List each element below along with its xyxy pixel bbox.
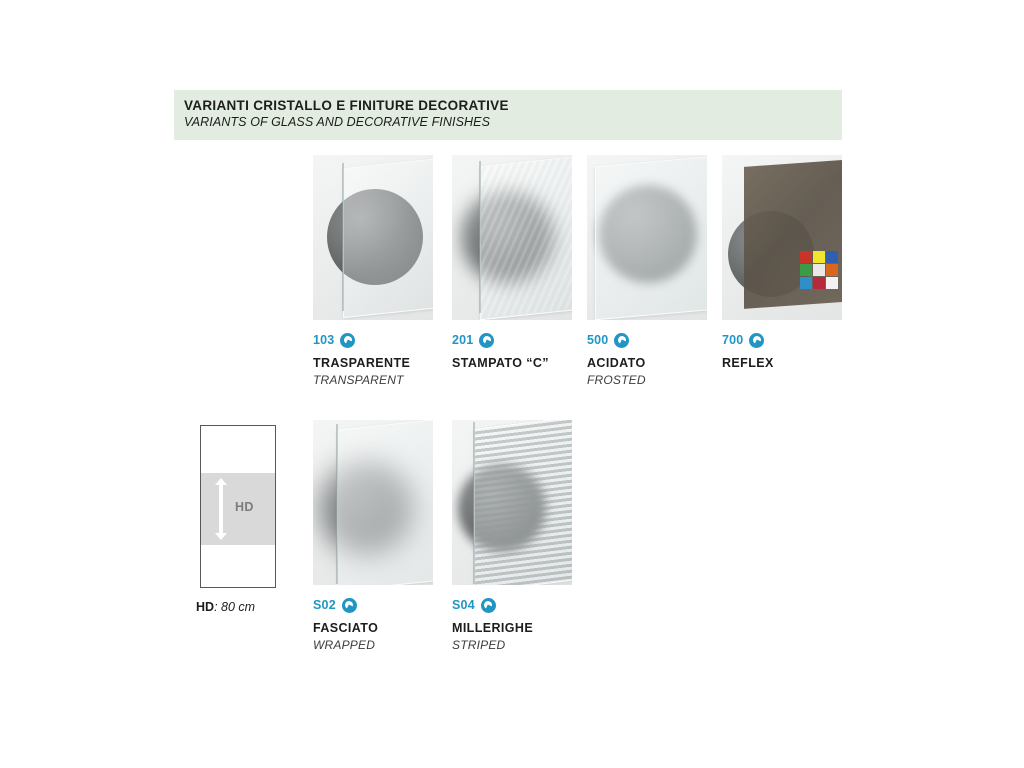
swatch-image-500: [587, 155, 707, 320]
color-chips-reflection: [800, 251, 838, 289]
swatch-image-201: [452, 155, 572, 320]
hd-diagram-box: HD: [200, 425, 276, 588]
swatch-code-line-s02: S02: [313, 597, 433, 613]
swatch-card-103[interactable]: 103 TRASPARENTE TRANSPARENT: [313, 155, 433, 387]
glass-pane-edge: [479, 161, 481, 313]
glass-pane-edge: [342, 163, 344, 311]
swatch-code: 201: [452, 333, 473, 347]
swatch-code: 103: [313, 333, 334, 347]
swatch-name-english: TRANSPARENT: [313, 373, 433, 387]
header-title-english: VARIANTS OF GLASS AND DECORATIVE FINISHE…: [184, 114, 842, 131]
swatch-card-201[interactable]: 201 STAMPATO “C”: [452, 155, 572, 373]
swatch-code-line-s04: S04: [452, 597, 572, 613]
page-root: VARIANTI CRISTALLO E FINITURE DECORATIVE…: [0, 0, 1024, 768]
glass-pane-stamped: [480, 156, 572, 320]
swatch-name-english: WRAPPED: [313, 638, 433, 652]
glass-pane-edge: [336, 424, 338, 584]
hand-touch-icon: [614, 333, 629, 348]
swatch-code-line-700: 700: [722, 332, 842, 348]
swatch-name-italian: ACIDATO: [587, 356, 707, 370]
swatch-code: S04: [452, 598, 475, 612]
swatch-name-italian: TRASPARENTE: [313, 356, 433, 370]
swatch-code-line-103: 103: [313, 332, 433, 348]
glass-pane-frosted: [595, 156, 707, 320]
swatch-image-s04: [452, 420, 572, 585]
swatch-name-english: FROSTED: [587, 373, 707, 387]
swatch-code: S02: [313, 598, 336, 612]
swatch-name-italian: STAMPATO “C”: [452, 356, 572, 370]
swatch-code-line-201: 201: [452, 332, 572, 348]
glass-pane-wrapped: [337, 420, 433, 585]
swatch-card-s02[interactable]: S02 FASCIATO WRAPPED: [313, 420, 433, 652]
glass-pane-striped: [474, 420, 572, 585]
swatch-image-103: [313, 155, 433, 320]
glass-pane-transparent: [343, 158, 433, 318]
hand-touch-icon: [749, 333, 764, 348]
hand-touch-icon: [481, 598, 496, 613]
header-title-italian: VARIANTI CRISTALLO E FINITURE DECORATIVE: [184, 97, 842, 114]
swatch-image-s02: [313, 420, 433, 585]
swatch-name-italian: REFLEX: [722, 356, 842, 370]
swatch-name-italian: FASCIATO: [313, 621, 433, 635]
hd-arrow-label: HD: [235, 500, 254, 514]
swatch-name-english: STRIPED: [452, 638, 572, 652]
hand-touch-icon: [340, 333, 355, 348]
hand-touch-icon: [342, 598, 357, 613]
hand-touch-icon: [479, 333, 494, 348]
glass-pane-edge: [473, 422, 475, 584]
hd-caption-key: HD: [196, 600, 214, 614]
swatch-card-500[interactable]: 500 ACIDATO FROSTED: [587, 155, 707, 387]
swatch-card-s04[interactable]: S04 MILLERIGHE STRIPED: [452, 420, 572, 652]
hd-caption-value: : 80 cm: [214, 600, 255, 614]
section-header-band: VARIANTI CRISTALLO E FINITURE DECORATIVE…: [174, 90, 842, 140]
hd-double-arrow-icon: [215, 478, 227, 540]
swatch-name-italian: MILLERIGHE: [452, 621, 572, 635]
swatch-code: 700: [722, 333, 743, 347]
swatch-image-700: [722, 155, 842, 320]
swatch-card-700[interactable]: 700 REFLEX: [722, 155, 842, 373]
swatch-code: 500: [587, 333, 608, 347]
hd-caption: HD: 80 cm: [196, 600, 255, 614]
swatch-code-line-500: 500: [587, 332, 707, 348]
